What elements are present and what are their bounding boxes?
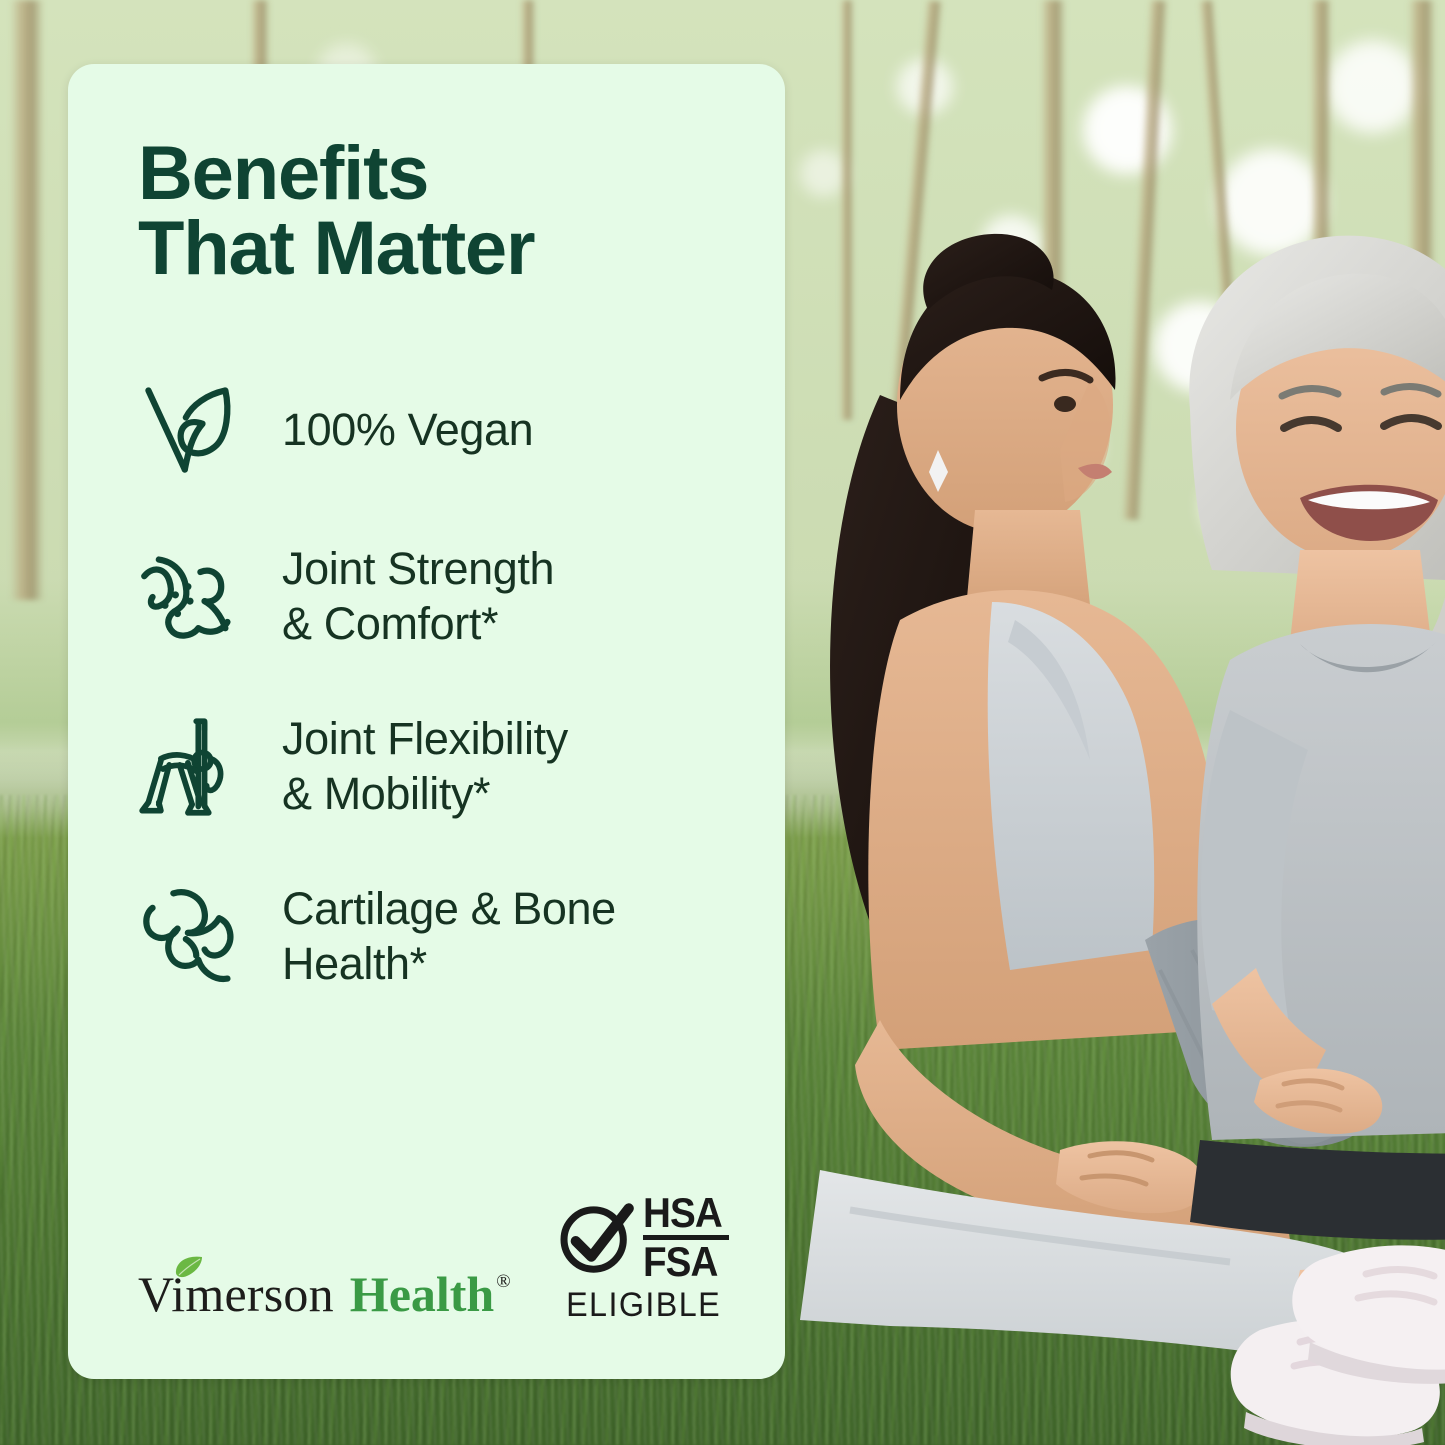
registered-trademark-symbol: ® [496, 1271, 510, 1293]
leaf-icon [174, 1255, 204, 1279]
joint-knee-icon [138, 545, 242, 649]
page-title: Benefits That Matter [138, 136, 729, 286]
brand-name-second: Health [350, 1269, 494, 1319]
brand-name-first: Vimerson [138, 1269, 334, 1319]
card-footer: Vimerson Health ® HSA FSA ELIGIBLE [138, 1194, 729, 1333]
eligible-label: ELIGIBLE [566, 1286, 721, 1325]
person-stretch-icon [138, 715, 242, 819]
benefit-item: Joint Strength & Comfort* [138, 542, 729, 652]
hsa-fsa-eligible-badge: HSA FSA ELIGIBLE [557, 1194, 729, 1333]
hsa-label: HSA [643, 1194, 722, 1233]
cartilage-bone-icon [138, 885, 242, 989]
benefit-item: Cartilage & Bone Health* [138, 882, 729, 992]
benefit-label: Cartilage & Bone Health* [282, 882, 616, 992]
benefit-label: 100% Vegan [282, 403, 533, 458]
benefit-label: Joint Strength & Comfort* [282, 542, 554, 652]
benefit-label: Joint Flexibility & Mobility* [282, 712, 568, 822]
benefits-list: 100% Vegan [138, 378, 729, 991]
two-women-figures [760, 150, 1445, 1445]
hsa-badge-top: HSA FSA [557, 1194, 729, 1282]
leaf-vegan-icon [138, 378, 242, 482]
fsa-label: FSA [643, 1243, 722, 1282]
benefit-item: Joint Flexibility & Mobility* [138, 712, 729, 822]
benefit-item: 100% Vegan [138, 378, 729, 482]
circle-check-icon [557, 1199, 635, 1277]
hsa-fsa-letters: HSA FSA [643, 1194, 729, 1282]
benefits-card: Benefits That Matter 100% Vegan [68, 64, 785, 1379]
product-benefits-banner: Benefits That Matter 100% Vegan [0, 0, 1445, 1445]
brand-logo: Vimerson Health ® [138, 1269, 511, 1333]
